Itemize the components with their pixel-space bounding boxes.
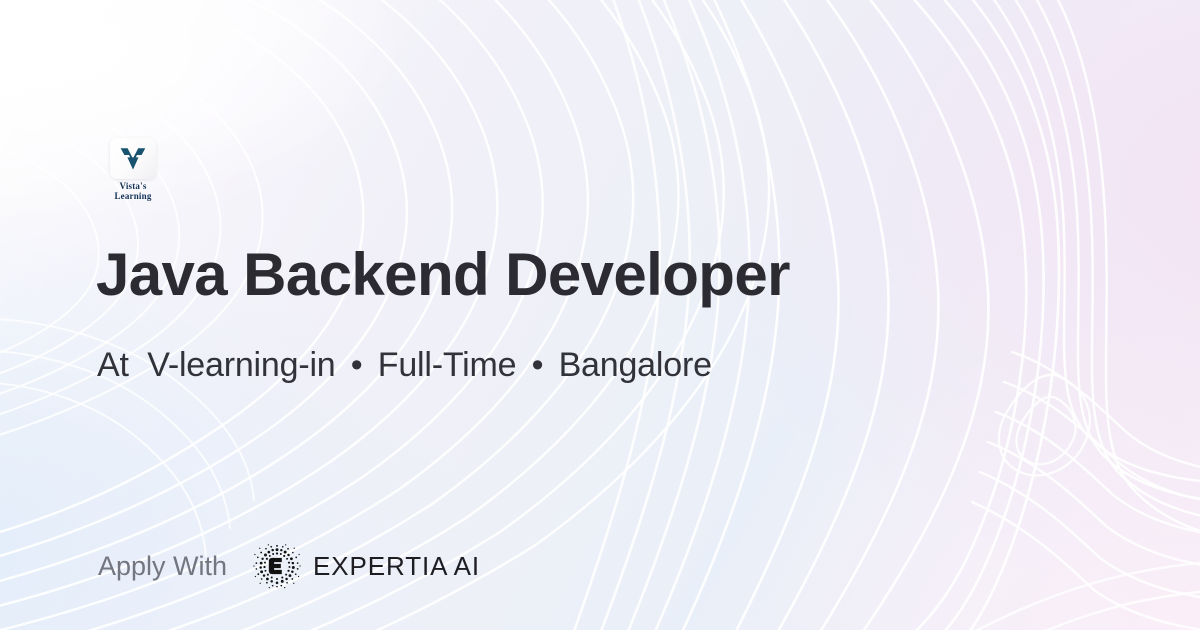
job-title: Java Backend Developer xyxy=(96,243,790,307)
meta-separator-1: • xyxy=(345,346,369,384)
company-brand-name: Vista's Learning xyxy=(97,181,169,201)
job-share-card: Vista's Learning Java Backend Developer … xyxy=(0,0,1200,630)
card-content: Vista's Learning Java Backend Developer … xyxy=(0,0,1200,630)
vista-bird-v-icon xyxy=(119,146,147,172)
job-company-name: V-learning-in xyxy=(147,346,335,384)
job-meta-line: At V-learning-in • Full-Time • Bangalore xyxy=(97,345,712,385)
company-brand-name-line1: Vista's xyxy=(97,181,169,191)
apply-with-label: Apply With xyxy=(98,551,227,582)
job-location: Bangalore xyxy=(559,346,712,384)
company-brand-name-line2: Learning xyxy=(97,191,169,201)
job-company-prefix: At xyxy=(97,346,129,384)
meta-separator-2: • xyxy=(526,346,550,384)
expertia-brand-name: EXPERTIA AI xyxy=(313,551,480,582)
expertia-particle-e-icon xyxy=(253,542,301,590)
company-brand-lockup: Vista's Learning xyxy=(97,138,217,201)
job-employment-type: Full-Time xyxy=(378,346,517,384)
company-logo-tile xyxy=(110,138,156,179)
apply-with-footer[interactable]: Apply With xyxy=(98,543,480,589)
